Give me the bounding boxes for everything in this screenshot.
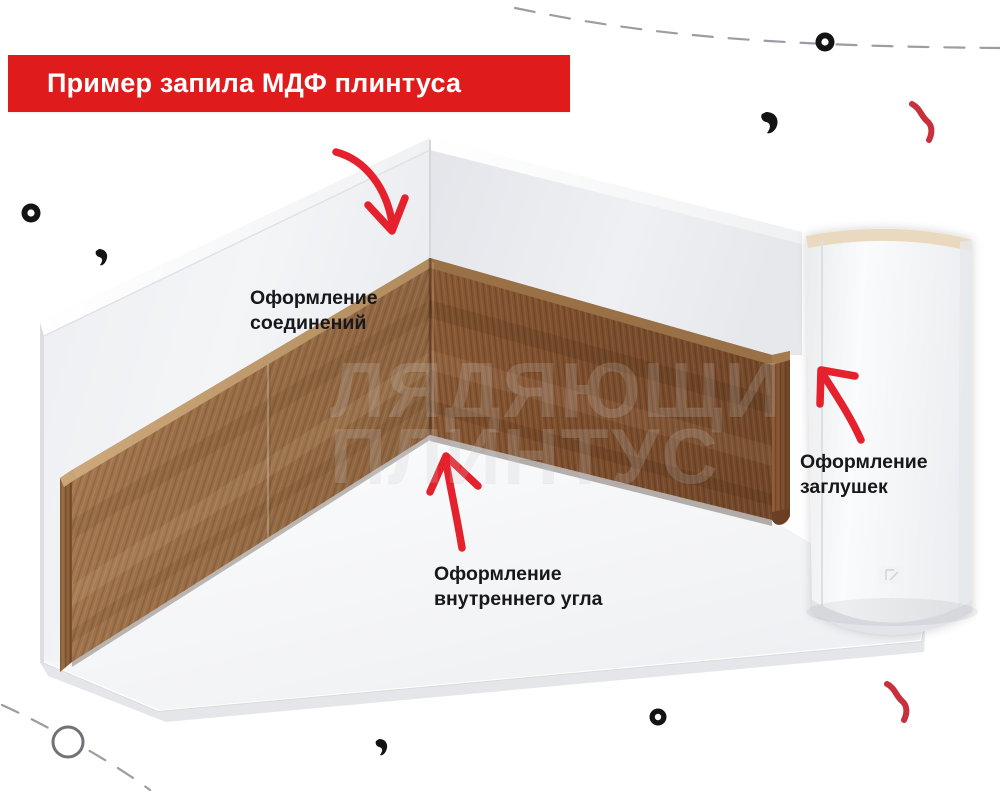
page-title: Пример запила МДФ плинтуса (8, 70, 461, 97)
annotation-label-caps: Оформление заглушек (800, 450, 928, 500)
wall-left-side-thickness (40, 322, 44, 668)
end-cap-panel (806, 229, 972, 635)
screenshot-canvas: ЛЯДЯЮЩИ ПЛИНТУС Пример запила МДФ плинту… (0, 0, 1000, 800)
annotation-label-joints: Оформление соединений (250, 286, 378, 336)
cap-panel-contact-shadow (806, 598, 978, 626)
end-cap-panel-stamp (878, 566, 904, 584)
annotation-label-inner-corner: Оформление внутреннего угла (434, 562, 602, 612)
baseboard-corner-illustration (0, 0, 1000, 800)
title-banner: Пример запила МДФ плинтуса (8, 55, 570, 112)
